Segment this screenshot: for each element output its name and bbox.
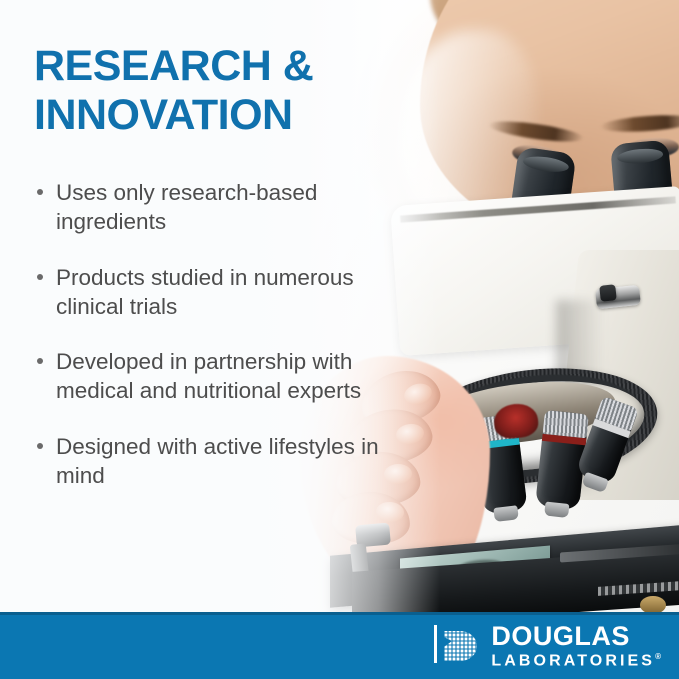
registered-trademark-icon: ® xyxy=(655,652,661,661)
footer-bar: DOUGLAS LABORATORIES® xyxy=(0,612,679,679)
list-item-label: Uses only research-based ingredients xyxy=(56,180,317,234)
eyepiece-ring xyxy=(617,147,664,165)
promo-banner: Research & Innovation Uses only research… xyxy=(0,0,679,679)
brand-name: DOUGLAS xyxy=(491,623,661,650)
headline-line-2: Innovation xyxy=(34,91,454,140)
list-item: Uses only research-based ingredients xyxy=(30,178,410,237)
brand-subtitle: LABORATORIES® xyxy=(491,653,661,669)
list-item-label: Products studied in numerous clinical tr… xyxy=(56,265,354,319)
eyepiece-ring xyxy=(522,154,570,174)
objective-tip xyxy=(544,502,569,518)
list-item: Developed in partnership with medical an… xyxy=(30,347,410,406)
bullet-icon xyxy=(37,189,43,195)
headline-line-1: Research & xyxy=(34,42,454,91)
douglas-dot-matrix-icon xyxy=(440,625,482,667)
list-item-label: Designed with active lifestyles in mind xyxy=(56,434,379,488)
list-item: Designed with active lifestyles in mind xyxy=(30,432,410,491)
feature-list: Uses only research-based ingredients Pro… xyxy=(30,178,410,490)
list-item-label: Developed in partnership with medical an… xyxy=(56,349,361,403)
brand-logo: DOUGLAS LABORATORIES® xyxy=(440,623,661,669)
list-item: Products studied in numerous clinical tr… xyxy=(30,263,410,322)
bullet-icon xyxy=(37,443,43,449)
bullet-icon xyxy=(37,358,43,364)
brand-subtitle-text: LABORATORIES xyxy=(491,652,655,669)
page-title: Research & Innovation xyxy=(34,42,454,140)
focus-knob-cap xyxy=(599,284,617,302)
logo-divider xyxy=(434,625,437,663)
bullet-icon xyxy=(37,274,43,280)
brand-wordmark: DOUGLAS LABORATORIES® xyxy=(491,623,661,669)
